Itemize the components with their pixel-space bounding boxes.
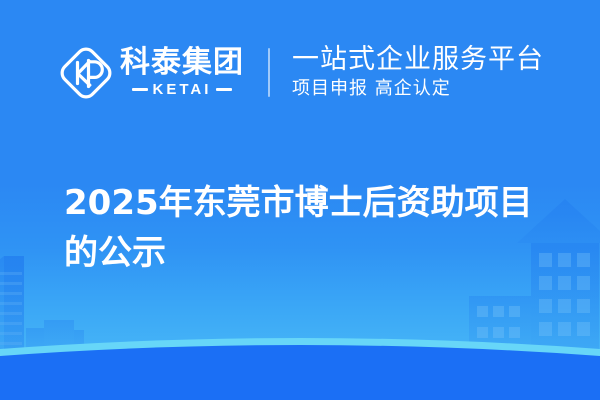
brand-logo[interactable]: 科泰集团 KETAI: [58, 45, 244, 101]
bottom-curve-decoration: [0, 320, 600, 400]
brand-name-en: KETAI: [153, 81, 212, 98]
promo-banner: 科泰集团 KETAI 一站式企业服务平台 项目申报 高企认定 2025年东莞市博…: [0, 0, 600, 400]
brand-name-en-row: KETAI: [120, 81, 244, 98]
tagline-sub: 项目申报 高企认定: [292, 77, 544, 100]
banner-header: 科泰集团 KETAI 一站式企业服务平台 项目申报 高企认定: [0, 0, 600, 145]
header-divider: [268, 48, 270, 97]
ketai-diamond-kp-monogram-icon: [58, 45, 114, 101]
dash-right-icon: [216, 88, 232, 91]
dash-left-icon: [132, 88, 148, 91]
brand-name-cn: 科泰集团: [120, 47, 244, 79]
page-title: 2025年东莞市博士后资助项目的公示: [64, 178, 564, 278]
tagline-main: 一站式企业服务平台: [292, 45, 544, 75]
tagline-block: 一站式企业服务平台 项目申报 高企认定: [292, 45, 544, 101]
brand-wordmark: 科泰集团 KETAI: [120, 47, 244, 99]
